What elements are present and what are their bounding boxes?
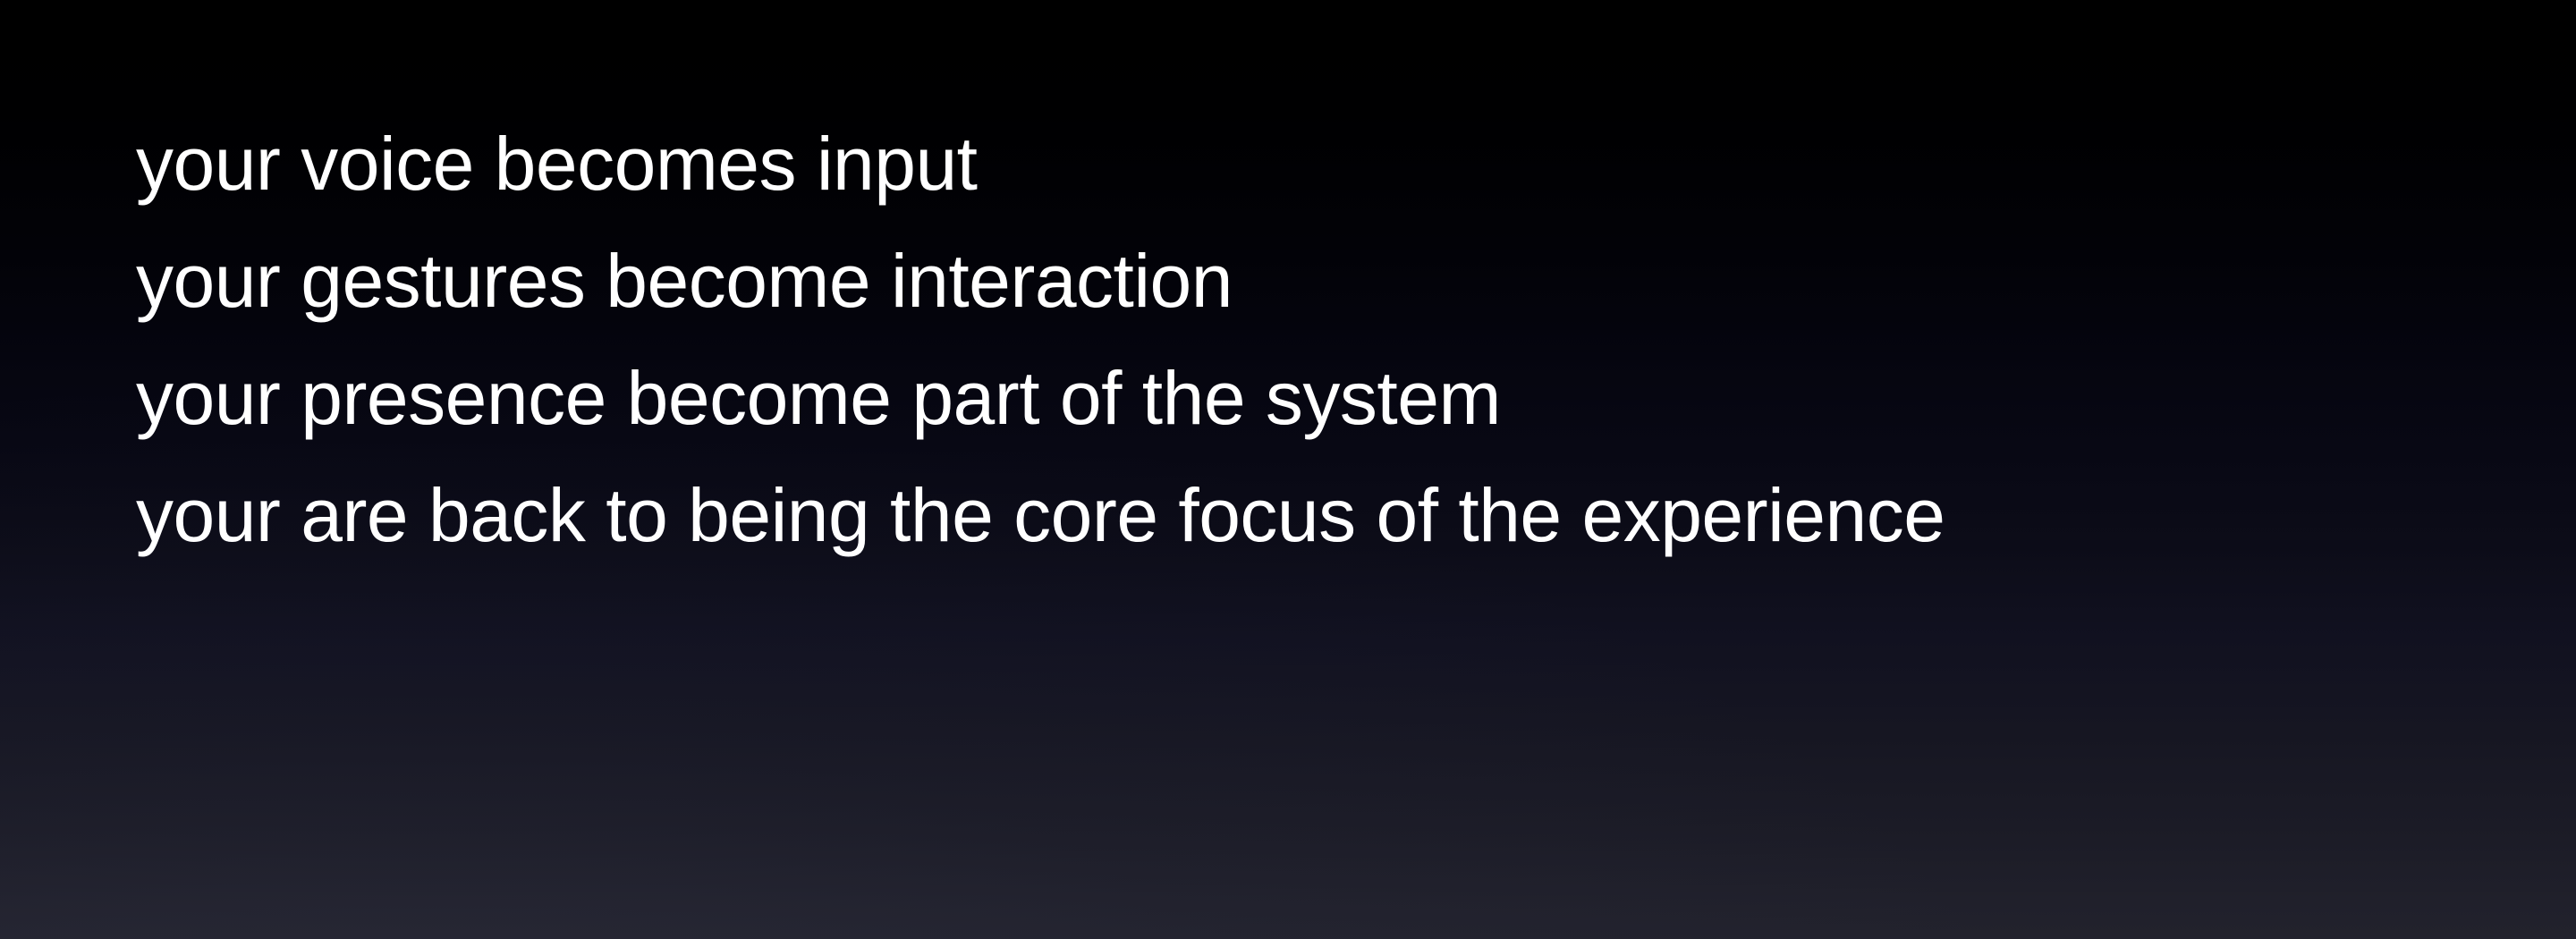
slide-text-block: your voice becomes input your gestures b… bbox=[136, 106, 1945, 574]
slide-line-1: your voice becomes input bbox=[136, 106, 1945, 223]
slide-line-3: your presence become part of the system bbox=[136, 340, 1945, 457]
slide-line-2: your gestures become interaction bbox=[136, 223, 1945, 340]
slide-line-4: your are back to being the core focus of… bbox=[136, 457, 1945, 574]
slide-canvas: your voice becomes input your gestures b… bbox=[0, 0, 2576, 939]
